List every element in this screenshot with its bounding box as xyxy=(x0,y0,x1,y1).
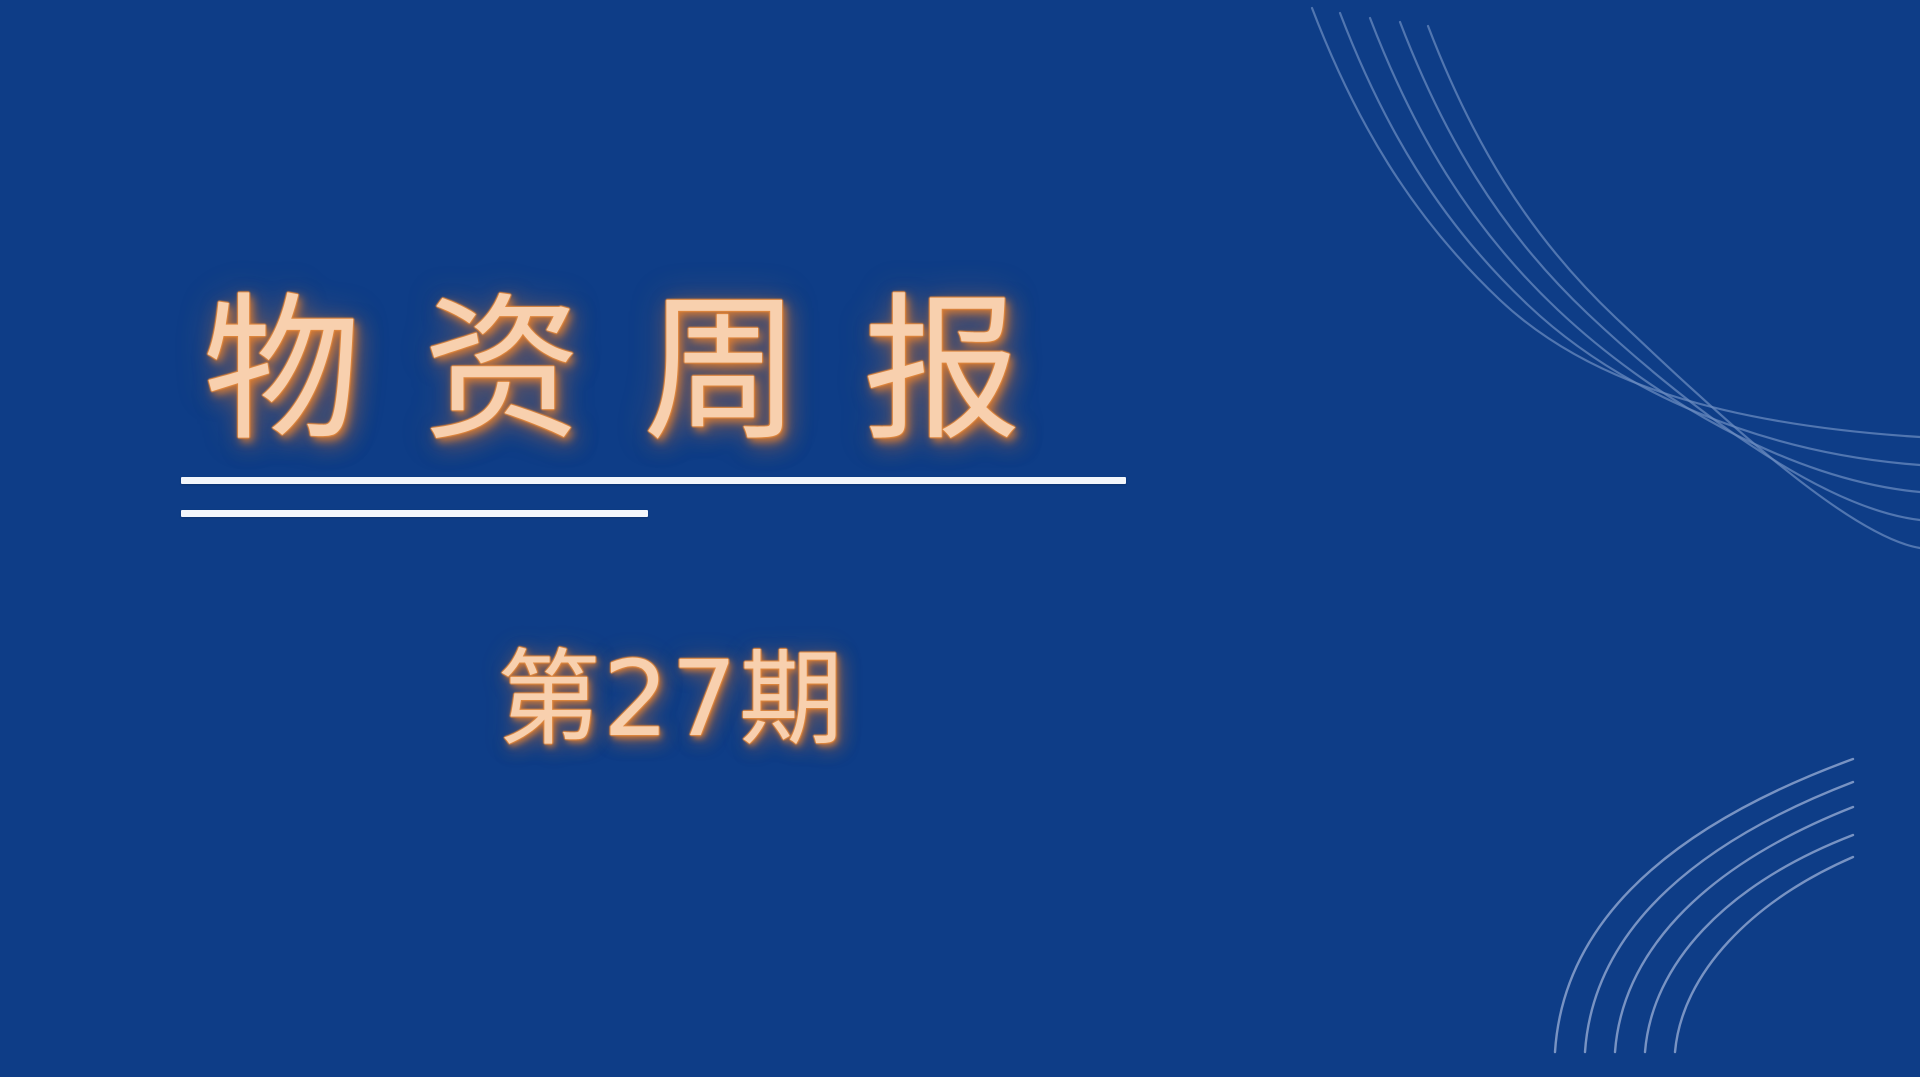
wave-line xyxy=(1312,8,1920,437)
wave-line xyxy=(1340,13,1920,465)
arc-line xyxy=(1555,759,1853,1052)
wave-lines-top-right-decoration xyxy=(1260,0,1920,600)
title-underline-long xyxy=(181,477,1126,484)
issue-subtitle: 第27期 xyxy=(181,638,1161,761)
wave-line xyxy=(1370,18,1920,492)
cover-slide: 物资周报 第27期 xyxy=(0,0,1920,1077)
arc-line xyxy=(1585,782,1853,1052)
arc-line xyxy=(1645,835,1853,1052)
wave-line xyxy=(1428,26,1920,548)
page-title: 物资周报 xyxy=(181,286,1281,457)
arc-line xyxy=(1615,807,1853,1052)
wave-line xyxy=(1400,22,1920,520)
arc-line xyxy=(1675,857,1853,1052)
title-underline-short xyxy=(181,510,648,517)
arc-lines-bottom-right-decoration xyxy=(1500,717,1920,1077)
title-block: 物资周报 xyxy=(181,286,1281,517)
